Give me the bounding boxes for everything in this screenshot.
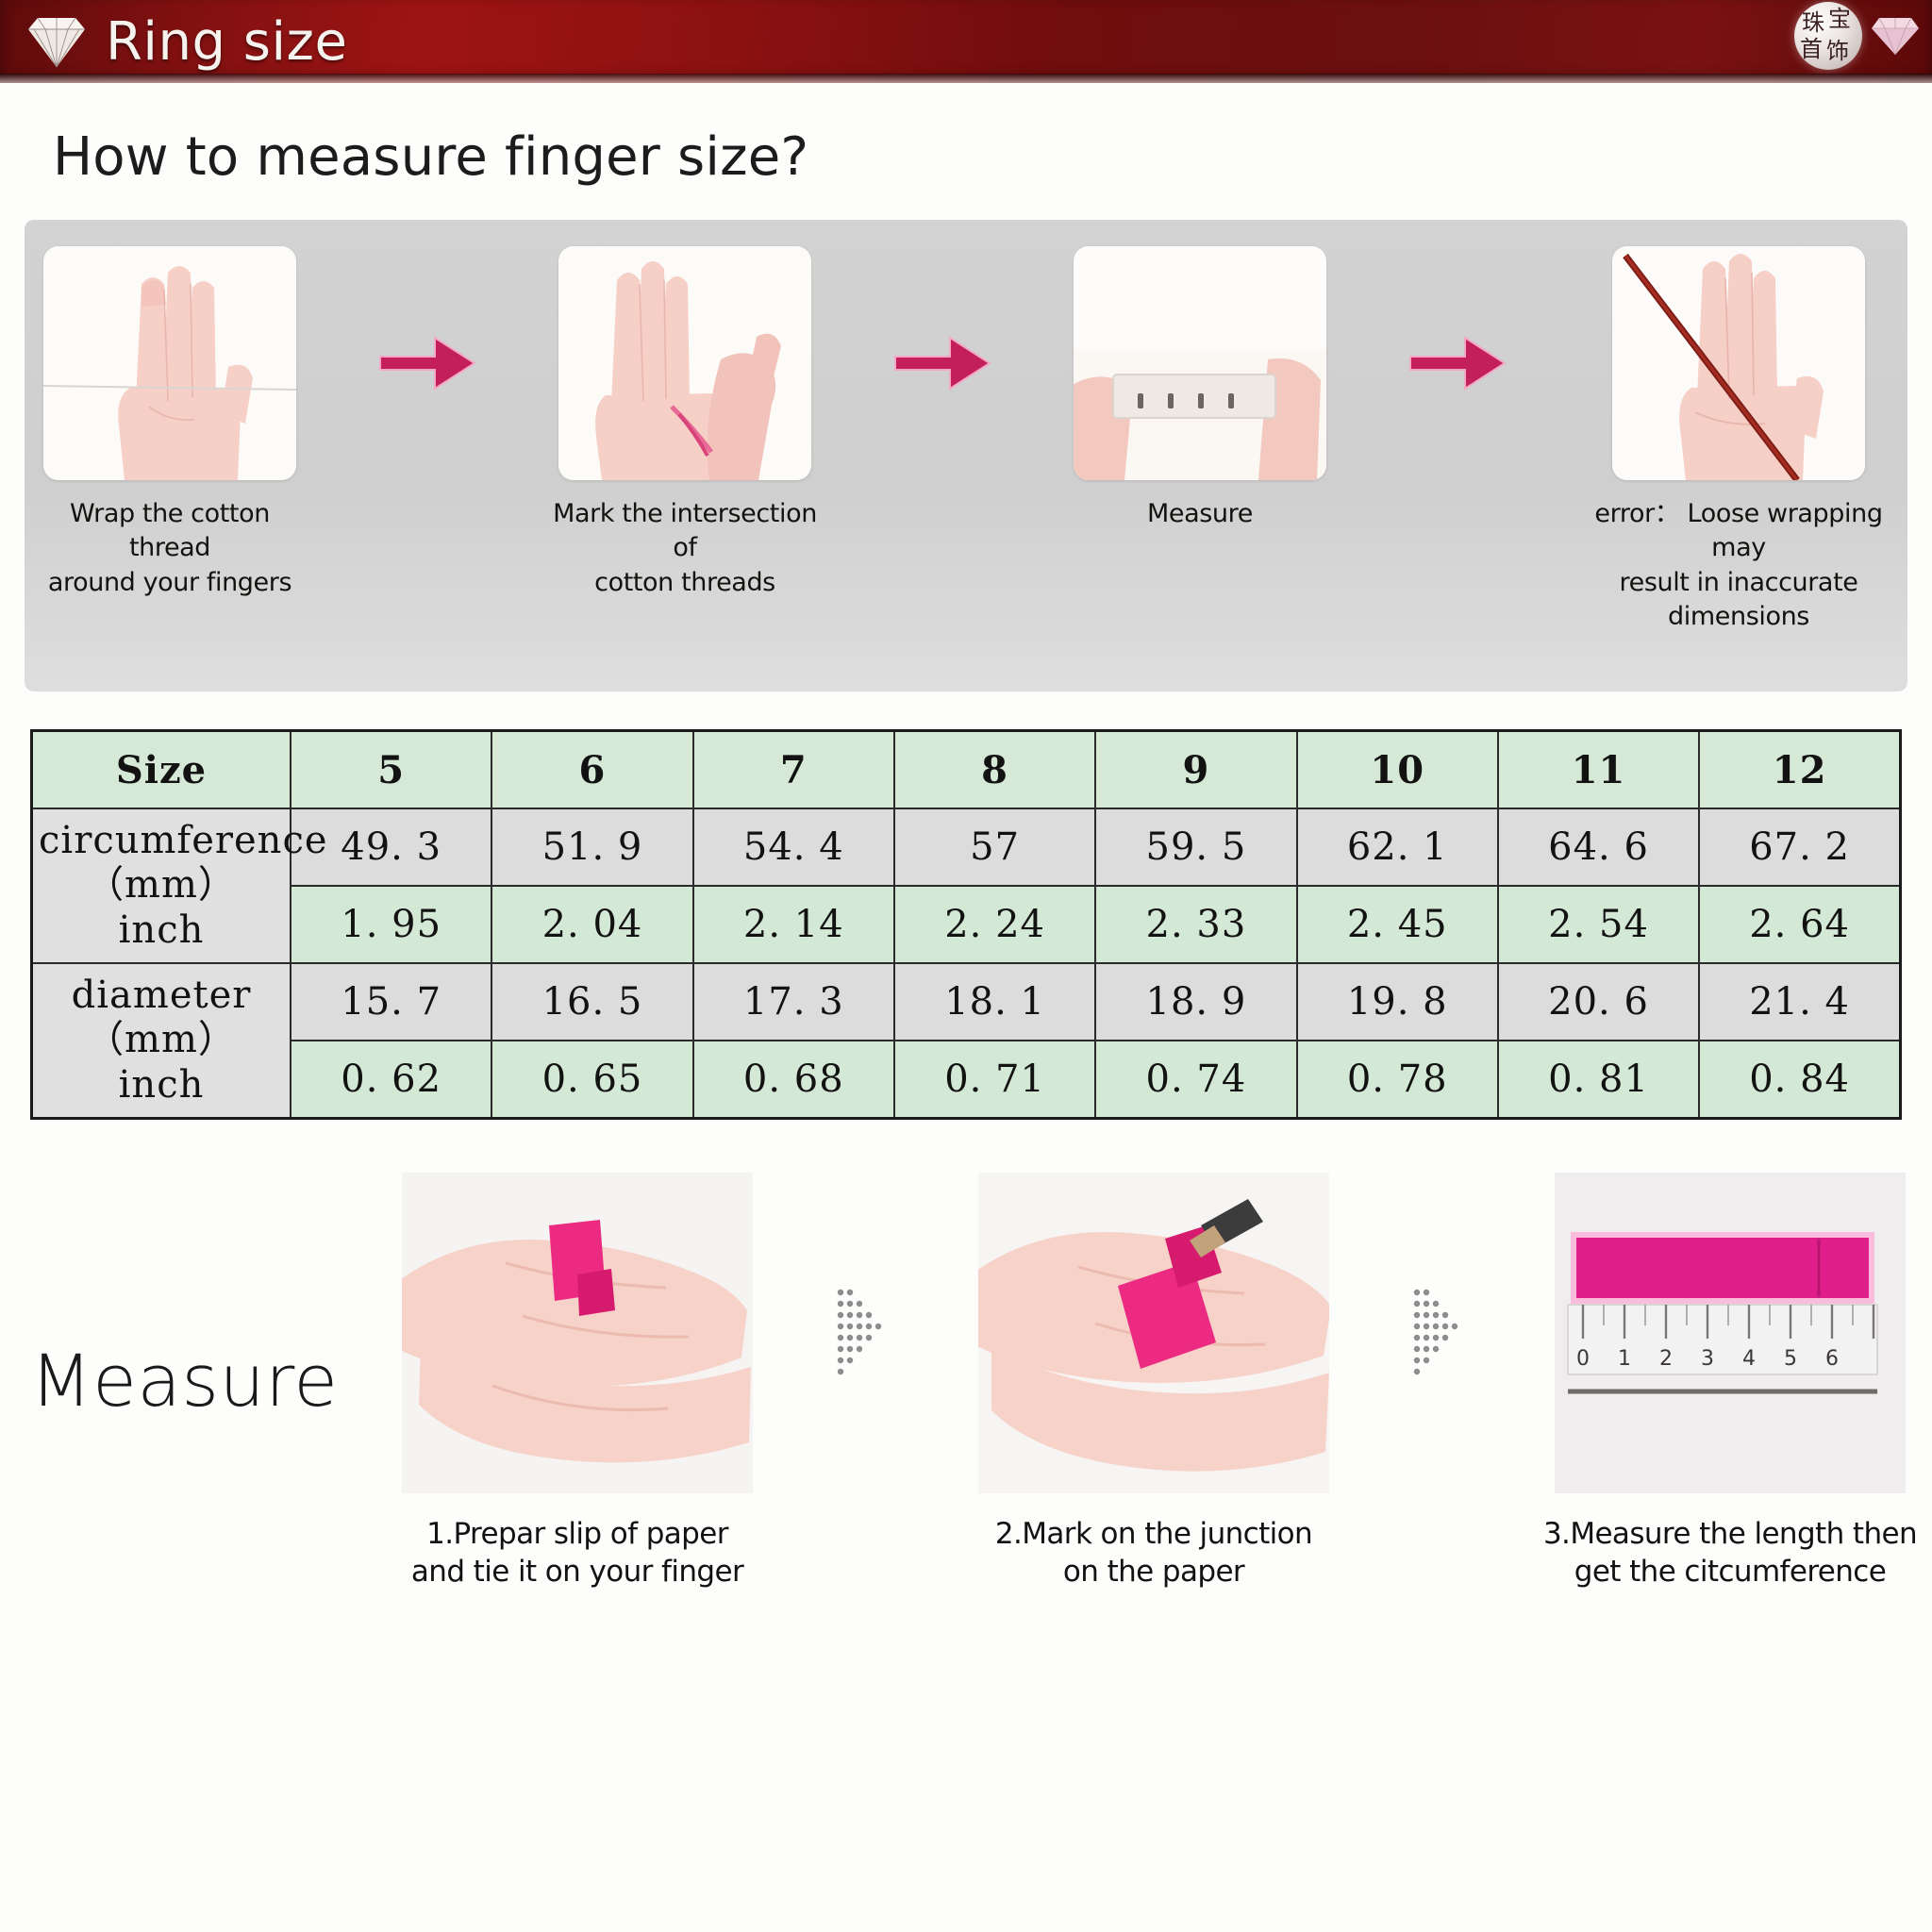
row-label-circumference: circumference （mm） inch [32, 808, 291, 963]
svg-text:0: 0 [1576, 1347, 1590, 1371]
svg-text:2: 2 [1659, 1347, 1673, 1371]
step-4: error： Loose wrapping may result in inac… [1583, 246, 1894, 635]
cell-circ-in-6: 2. 04 [491, 886, 692, 963]
brand-logo-icon: 珠 宝 首 饰 [1794, 2, 1862, 70]
cell-circ-in-5: 1. 95 [291, 886, 491, 963]
cell-circ-in-11: 2. 54 [1498, 886, 1699, 963]
table-col-6: 6 [491, 731, 692, 809]
measure-step-1-caption: 1.Prepar slip of paper and tie it on you… [375, 1516, 780, 1591]
hand-with-thread-photo [43, 246, 296, 480]
measure-steps-panel: Wrap the cotton thread around your finge… [25, 220, 1907, 691]
table-corner-label: Size [32, 731, 291, 809]
measure-step-3: 0 1 2 3 4 5 6 3.Measure the length then … [1551, 1173, 1909, 1591]
step-2: Mark the intersection of cotton threads [553, 246, 817, 600]
row-label-circumference-sub: inch [39, 908, 284, 953]
cell-circ-mm-11: 64. 6 [1498, 808, 1699, 886]
measure-step-1: 1.Prepar slip of paper and tie it on you… [398, 1173, 757, 1591]
table-row: circumference （mm） inch 49. 3 51. 9 54. … [32, 808, 1901, 886]
cell-circ-mm-9: 59. 5 [1095, 808, 1296, 886]
measure-heading: Measure [23, 1173, 398, 1423]
cell-circ-in-10: 2. 45 [1297, 886, 1498, 963]
table-row: 1. 95 2. 04 2. 14 2. 24 2. 33 2. 45 2. 5… [32, 886, 1901, 963]
logo-char-2: 宝 [1828, 8, 1851, 30]
step-3-caption: Measure [1057, 497, 1343, 531]
paper-slip-on-finger-photo [402, 1173, 753, 1493]
step-2-caption: Mark the intersection of cotton threads [541, 497, 828, 600]
table-col-8: 8 [894, 731, 1095, 809]
cell-diam-in-6: 0. 65 [491, 1041, 692, 1119]
cell-diam-in-10: 0. 78 [1297, 1041, 1498, 1119]
cell-circ-in-9: 2. 33 [1095, 886, 1296, 963]
step-arrow-1 [302, 246, 553, 480]
page-title: How to measure finger size? [53, 126, 1932, 188]
svg-text:4: 4 [1742, 1347, 1756, 1371]
row-label-diameter: diameter （mm） inch [32, 963, 291, 1119]
paper-measure-section: Measure 1.Prepar slip of paper and tie i… [0, 1173, 1932, 1591]
ruler-measure-photo [1074, 246, 1326, 480]
cell-diam-mm-10: 19. 8 [1297, 963, 1498, 1041]
size-table-wrapper: Size 5 6 7 8 9 10 11 12 circumference （m… [30, 729, 1902, 1120]
row-label-circumference-main: circumference （mm） [39, 819, 284, 908]
marking-thread-photo [558, 246, 811, 480]
cell-diam-mm-9: 18. 9 [1095, 963, 1296, 1041]
table-col-9: 9 [1095, 731, 1296, 809]
app-header: Ring size 珠 宝 首 饰 [0, 0, 1932, 83]
cell-diam-mm-8: 18. 1 [894, 963, 1095, 1041]
cell-circ-in-7: 2. 14 [693, 886, 894, 963]
cell-diam-in-12: 0. 84 [1699, 1041, 1900, 1119]
cell-circ-mm-7: 54. 4 [693, 808, 894, 886]
logo-char-1: 珠 [1802, 11, 1824, 34]
table-header-row: Size 5 6 7 8 9 10 11 12 [32, 731, 1901, 809]
cell-diam-mm-5: 15. 7 [291, 963, 491, 1041]
svg-text:1: 1 [1618, 1347, 1631, 1371]
svg-text:6: 6 [1825, 1347, 1839, 1371]
step-arrow-2 [817, 246, 1068, 480]
step-arrow-3 [1332, 246, 1583, 480]
loose-wrapping-error-photo [1612, 246, 1865, 480]
logo-char-4: 饰 [1826, 40, 1849, 62]
measure-arrow-1 [757, 1173, 974, 1493]
row-label-diameter-sub: inch [39, 1063, 284, 1108]
cell-diam-in-9: 0. 74 [1095, 1041, 1296, 1119]
cell-diam-in-11: 0. 81 [1498, 1041, 1699, 1119]
step-1-caption: Wrap the cotton thread around your finge… [26, 497, 313, 600]
cell-circ-in-12: 2. 64 [1699, 886, 1900, 963]
row-label-diameter-main: diameter （mm） [39, 974, 284, 1062]
table-row: diameter （mm） inch 15. 7 16. 5 17. 3 18.… [32, 963, 1901, 1041]
cell-diam-mm-7: 17. 3 [693, 963, 894, 1041]
table-col-10: 10 [1297, 731, 1498, 809]
cell-diam-mm-11: 20. 6 [1498, 963, 1699, 1041]
cell-circ-mm-12: 67. 2 [1699, 808, 1900, 886]
arrow-right-icon [376, 328, 478, 398]
step-1: Wrap the cotton thread around your finge… [38, 246, 302, 600]
svg-text:5: 5 [1784, 1347, 1797, 1371]
cell-diam-mm-6: 16. 5 [491, 963, 692, 1041]
table-row: 0. 62 0. 65 0. 68 0. 71 0. 74 0. 78 0. 8… [32, 1041, 1901, 1119]
step-4-caption: error： Loose wrapping may result in inac… [1567, 497, 1910, 635]
svg-text:3: 3 [1701, 1347, 1714, 1371]
table-col-7: 7 [693, 731, 894, 809]
cell-circ-mm-6: 51. 9 [491, 808, 692, 886]
cell-diam-in-7: 0. 68 [693, 1041, 894, 1119]
table-col-5: 5 [291, 731, 491, 809]
measure-step-2-caption: 2.Mark on the junction on the paper [951, 1516, 1357, 1591]
arrow-right-icon [1407, 328, 1508, 398]
mark-junction-photo [978, 1173, 1329, 1493]
header-brand-group: 珠 宝 首 饰 [1794, 2, 1923, 70]
measure-step-2: 2.Mark on the junction on the paper [974, 1173, 1333, 1591]
cell-diam-in-5: 0. 62 [291, 1041, 491, 1119]
measure-strip-ruler-photo: 0 1 2 3 4 5 6 [1555, 1173, 1906, 1493]
measure-arrow-2 [1333, 1173, 1551, 1493]
step-3: Measure [1068, 246, 1332, 531]
table-col-11: 11 [1498, 731, 1699, 809]
measure-step-3-caption: 3.Measure the length then get the citcum… [1527, 1516, 1932, 1591]
logo-char-3: 首 [1800, 38, 1823, 60]
table-col-12: 12 [1699, 731, 1900, 809]
cell-diam-in-8: 0. 71 [894, 1041, 1095, 1119]
arrow-right-icon [891, 328, 993, 398]
cell-diam-mm-12: 21. 4 [1699, 963, 1900, 1041]
diamond-icon [21, 14, 92, 69]
cell-circ-mm-8: 57 [894, 808, 1095, 886]
diamond-icon-small [1868, 15, 1923, 57]
cell-circ-in-8: 2. 24 [894, 886, 1095, 963]
dotted-arrow-right-icon [833, 1281, 899, 1385]
header-title: Ring size [106, 11, 347, 73]
ring-size-table: Size 5 6 7 8 9 10 11 12 circumference （m… [30, 729, 1902, 1120]
cell-circ-mm-10: 62. 1 [1297, 808, 1498, 886]
dotted-arrow-right-icon [1409, 1281, 1475, 1385]
